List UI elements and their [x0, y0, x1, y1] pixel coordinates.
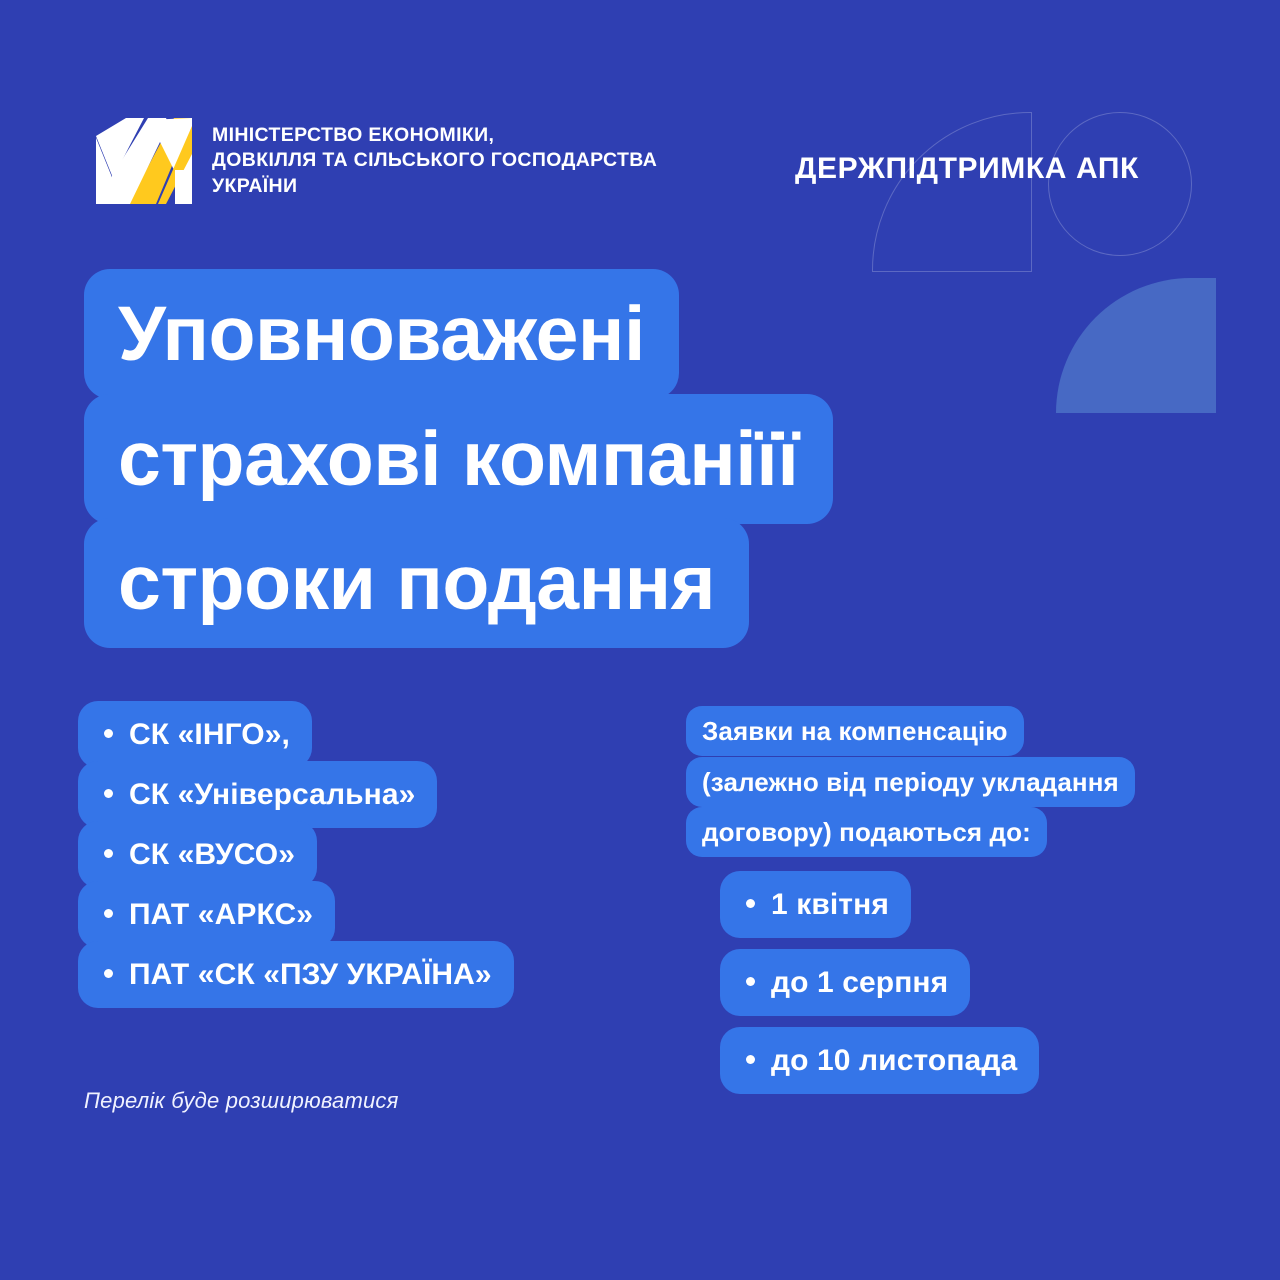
company-item-wrapper: ПАТ «СК «ПЗУ УКРАЇНА» — [78, 941, 514, 1008]
bullet-dot-icon — [104, 909, 113, 918]
company-label: ПАТ «АРКС» — [129, 898, 313, 931]
title-line-2: страхові компаніїї — [84, 394, 833, 524]
company-item-wrapper: ПАТ «АРКС» — [78, 881, 335, 948]
deadline-item-wrapper: 1 квітня — [720, 871, 911, 938]
companies-column: СК «ІНГО», СК «Універсальна» СК «ВУСО» П… — [78, 718, 658, 992]
deadlines-intro-line-2: (залежно від періоду укладання — [686, 757, 1135, 807]
title-line-3: строки подання — [84, 518, 749, 648]
deadline-label: 1 квітня — [771, 888, 889, 921]
page-title: Уповноваженістрахові компаніїїстроки под… — [84, 272, 1094, 646]
ministry-header: МІНІСТЕРСТВО ЕКОНОМІКИ, ДОВКІЛЛЯ ТА СІЛЬ… — [96, 118, 657, 204]
program-label: ДЕРЖПІДТРИМКА АПК — [795, 152, 1139, 186]
deadlines-column: Заявки на компенсацію(залежно від період… — [686, 706, 1206, 1122]
company-label: СК «ВУСО» — [129, 838, 295, 871]
list-item: до 1 серпня — [720, 966, 1206, 1000]
bullet-dot-icon — [104, 729, 113, 738]
list-item: 1 квітня — [720, 888, 1206, 922]
square-arc-outline-decoration — [872, 112, 1032, 272]
deadlines-intro-text: Заявки на компенсацію(залежно від період… — [686, 706, 1206, 858]
deadline-item-wrapper: до 10 листопада — [720, 1027, 1039, 1094]
bullet-dot-icon — [104, 789, 113, 798]
list-item: СК «Універсальна» — [78, 778, 658, 812]
deadline-label: до 10 листопада — [771, 1044, 1017, 1077]
company-item-wrapper: СК «ІНГО», — [78, 701, 312, 768]
companies-footnote: Перелік буде розширюватися — [84, 1088, 399, 1114]
companies-list: СК «ІНГО», СК «Універсальна» СК «ВУСО» П… — [78, 718, 658, 992]
company-item-wrapper: СК «Універсальна» — [78, 761, 437, 828]
bullet-dot-icon — [746, 977, 755, 986]
company-label: СК «ІНГО», — [129, 718, 290, 751]
company-item-wrapper: СК «ВУСО» — [78, 821, 317, 888]
bullet-dot-icon — [746, 1055, 755, 1064]
bullet-dot-icon — [104, 849, 113, 858]
list-item: ПАТ «СК «ПЗУ УКРАЇНА» — [78, 958, 658, 992]
list-item: СК «ВУСО» — [78, 838, 658, 872]
deadlines-intro-line-1: Заявки на компенсацію — [686, 706, 1024, 756]
deadline-item-wrapper: до 1 серпня — [720, 949, 970, 1016]
deadlines-list: 1 квітня до 1 серпня до 10 листопада — [686, 888, 1206, 1078]
deadline-label: до 1 серпня — [771, 966, 948, 999]
infographic-poster: МІНІСТЕРСТВО ЕКОНОМІКИ, ДОВКІЛЛЯ ТА СІЛЬ… — [0, 0, 1280, 1280]
ministry-logo-icon — [96, 118, 192, 204]
deadlines-intro-line-3: договору) подаються до: — [686, 807, 1047, 857]
company-label: СК «Універсальна» — [129, 778, 415, 811]
main-title-block: Уповноваженістрахові компаніїїстроки под… — [84, 272, 1094, 646]
ministry-name-text: МІНІСТЕРСТВО ЕКОНОМІКИ, ДОВКІЛЛЯ ТА СІЛЬ… — [212, 123, 657, 199]
company-label: ПАТ «СК «ПЗУ УКРАЇНА» — [129, 958, 492, 991]
list-item: ПАТ «АРКС» — [78, 898, 658, 932]
bullet-dot-icon — [746, 899, 755, 908]
title-line-1: Уповноважені — [84, 269, 679, 399]
bullet-dot-icon — [104, 969, 113, 978]
list-item: СК «ІНГО», — [78, 718, 658, 752]
list-item: до 10 листопада — [720, 1044, 1206, 1078]
